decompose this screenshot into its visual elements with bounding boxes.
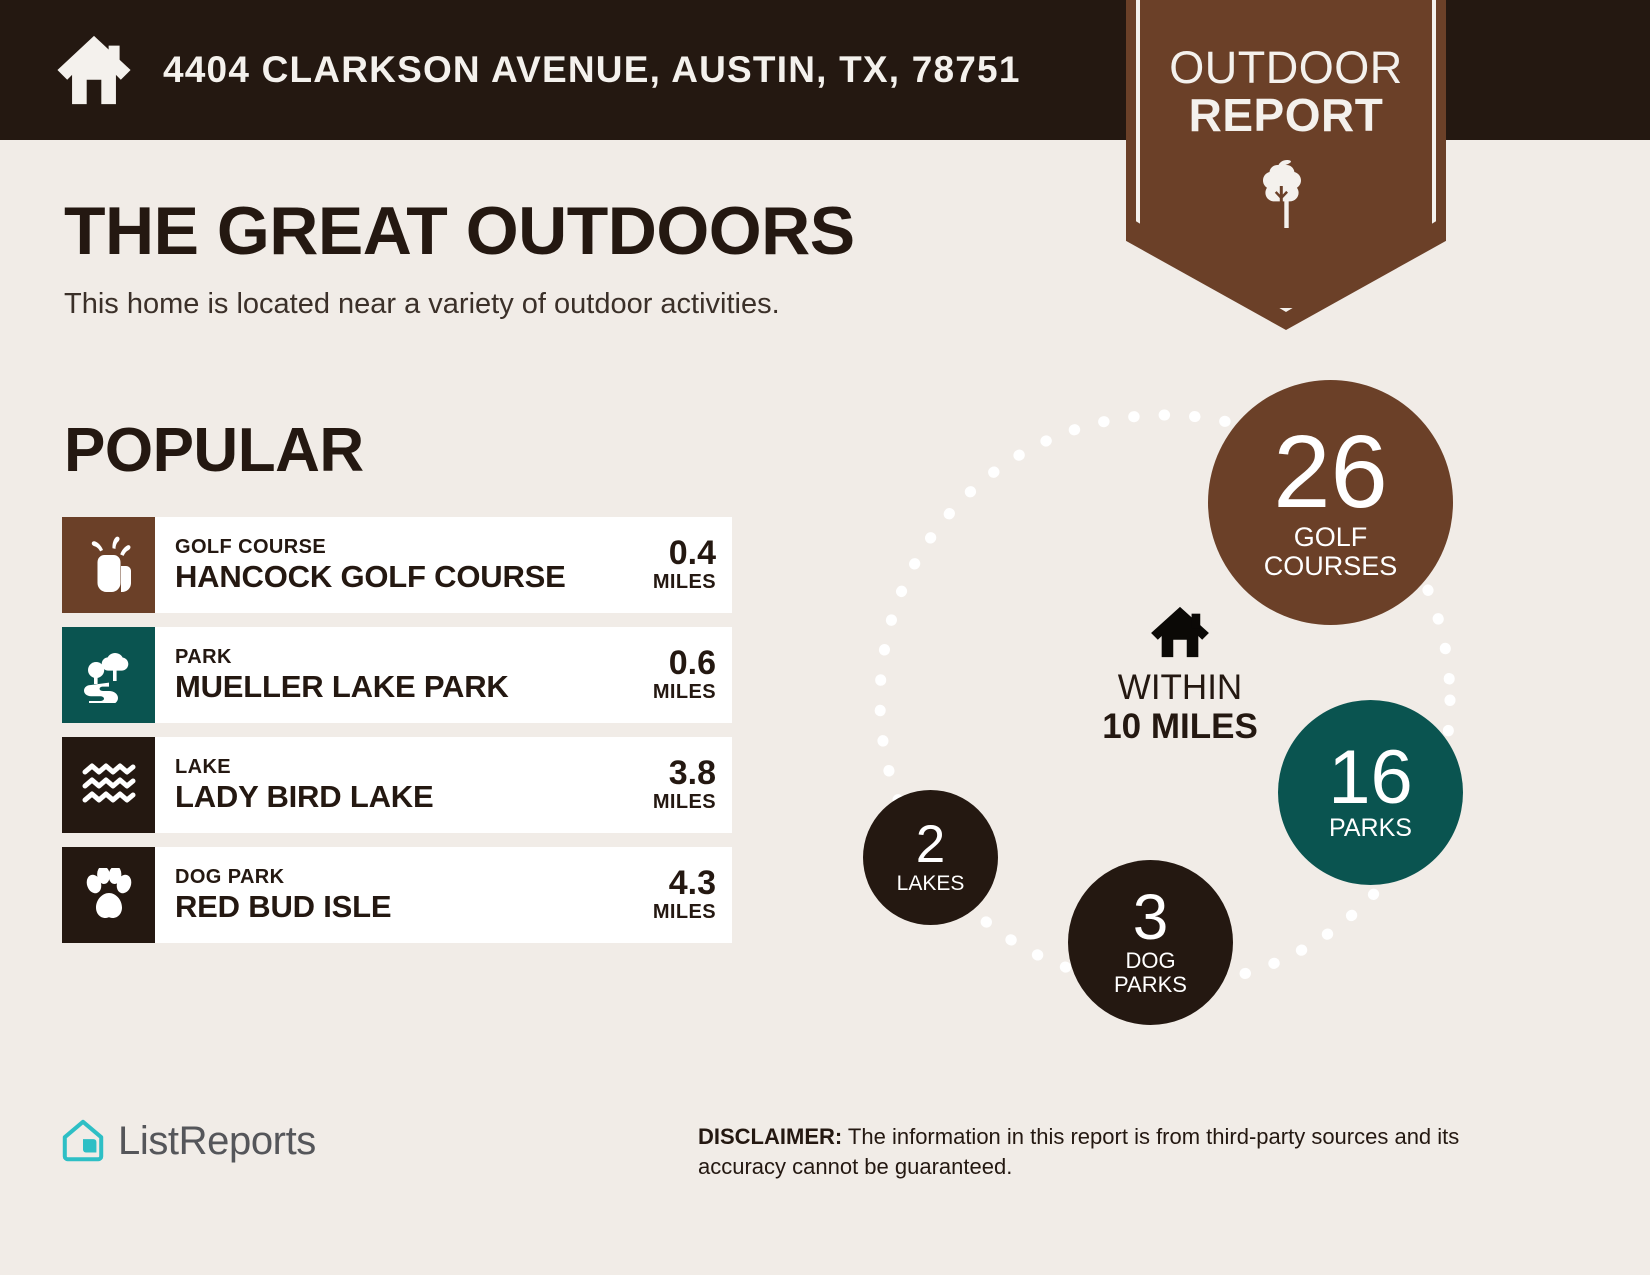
disclaimer: DISCLAIMER: The information in this repo…: [698, 1122, 1510, 1181]
distance-unit: MILES: [630, 571, 716, 594]
bubble-golf-courses[interactable]: 26 GOLF COURSES: [1208, 380, 1453, 625]
badge-line-2: REPORT: [1126, 88, 1446, 142]
bubble-label-line1: DOG: [1125, 949, 1175, 973]
paw-icon: [62, 847, 155, 943]
list-item-category: GOLF COURSE: [175, 535, 566, 560]
bubble-label-line2: COURSES: [1264, 552, 1398, 582]
distance-value: 0.4: [630, 536, 716, 572]
list-item-distance: 0.6 MILES: [630, 646, 716, 705]
distance-value: 4.3: [630, 866, 716, 902]
list-item[interactable]: GOLF COURSE HANCOCK GOLF COURSE 0.4 MILE…: [62, 517, 732, 613]
bubble-count: 16: [1328, 742, 1413, 814]
distance-unit: MILES: [630, 681, 716, 704]
bubble-label-line1: LAKES: [897, 872, 965, 895]
waves-icon: [62, 737, 155, 833]
list-item-distance: 3.8 MILES: [630, 756, 716, 815]
bubble-label-line1: GOLF: [1294, 523, 1368, 553]
page-subtitle: This home is located near a variety of o…: [64, 288, 780, 321]
home-icon: [1148, 605, 1212, 659]
list-item-distance: 4.3 MILES: [630, 866, 716, 925]
bubble-count: 2: [916, 820, 945, 870]
distance-unit: MILES: [630, 901, 716, 924]
bubble-count: 3: [1133, 887, 1169, 948]
list-item[interactable]: PARK MUELLER LAKE PARK 0.6 MILES: [62, 627, 732, 723]
property-address: 4404 CLARKSON AVENUE, AUSTIN, TX, 78751: [163, 49, 1021, 91]
listreports-house-icon: [60, 1118, 106, 1164]
popular-list: GOLF COURSE HANCOCK GOLF COURSE 0.4 MILE…: [62, 517, 732, 957]
tree-icon: [1261, 158, 1313, 230]
listreports-logo[interactable]: ListReports: [60, 1118, 316, 1164]
list-item[interactable]: DOG PARK RED BUD ISLE 4.3 MILES: [62, 847, 732, 943]
center-label-line1: WITHIN: [1118, 669, 1242, 707]
home-icon: [55, 31, 133, 109]
badge-line-1: OUTDOOR: [1126, 42, 1446, 94]
bubble-label-line1: PARKS: [1329, 815, 1412, 843]
list-item-name: RED BUD ISLE: [175, 890, 391, 925]
center-label-line2: 10 MILES: [1102, 707, 1258, 746]
outdoor-report-badge: OUTDOOR REPORT: [1126, 0, 1446, 330]
list-item-name: LADY BIRD LAKE: [175, 780, 433, 815]
bubble-dog-parks[interactable]: 3 DOG PARKS: [1068, 860, 1233, 1025]
page-title: THE GREAT OUTDOORS: [64, 192, 855, 270]
bubble-label-line2: PARKS: [1114, 973, 1187, 997]
golf-bag-icon: [62, 517, 155, 613]
list-item-distance: 0.4 MILES: [630, 536, 716, 595]
list-item[interactable]: LAKE LADY BIRD LAKE 3.8 MILES: [62, 737, 732, 833]
listreports-wordmark: ListReports: [118, 1119, 316, 1164]
disclaimer-label: DISCLAIMER:: [698, 1124, 842, 1149]
list-item-name: HANCOCK GOLF COURSE: [175, 560, 566, 595]
trees-icon: [62, 627, 155, 723]
list-item-name: MUELLER LAKE PARK: [175, 670, 509, 705]
diagram-center: WITHIN 10 MILES: [1055, 605, 1305, 746]
list-item-category: DOG PARK: [175, 865, 391, 890]
list-item-category: PARK: [175, 645, 509, 670]
distance-value: 0.6: [630, 646, 716, 682]
bubble-count: 26: [1273, 423, 1388, 521]
list-item-body: GOLF COURSE HANCOCK GOLF COURSE 0.4 MILE…: [155, 517, 732, 613]
amenities-diagram: 26 GOLF COURSES 16 PARKS 2 LAKES 3 DOG P…: [840, 355, 1520, 1045]
list-item-body: PARK MUELLER LAKE PARK 0.6 MILES: [155, 627, 732, 723]
list-item-body: LAKE LADY BIRD LAKE 3.8 MILES: [155, 737, 732, 833]
distance-unit: MILES: [630, 791, 716, 814]
distance-value: 3.8: [630, 756, 716, 792]
bubble-lakes[interactable]: 2 LAKES: [863, 790, 998, 925]
section-title-popular: POPULAR: [64, 415, 364, 486]
list-item-body: DOG PARK RED BUD ISLE 4.3 MILES: [155, 847, 732, 943]
list-item-category: LAKE: [175, 755, 433, 780]
bubble-parks[interactable]: 16 PARKS: [1278, 700, 1463, 885]
